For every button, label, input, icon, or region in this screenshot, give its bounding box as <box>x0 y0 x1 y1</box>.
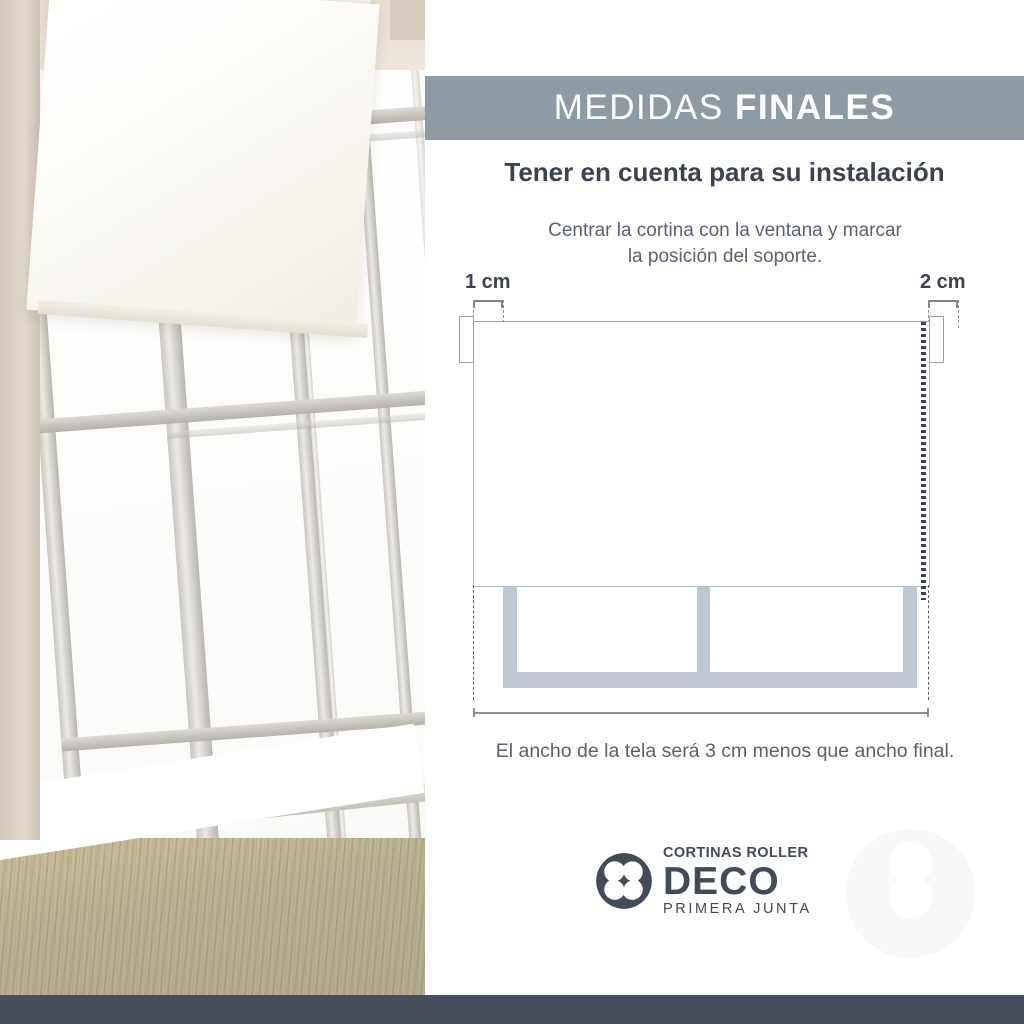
installation-diagram: 1 cm 2 cm <box>425 0 1024 780</box>
roller-fabric-panel <box>473 321 930 587</box>
left-dimension-bracket <box>473 300 503 302</box>
logo-text-middle: DECO <box>663 862 812 901</box>
deco-flower-logo-icon <box>595 852 653 910</box>
logo-text-bottom: PRIMERA JUNTA <box>663 902 812 917</box>
roller-blind-fabric <box>26 0 379 334</box>
left-wall-column <box>0 0 40 840</box>
width-dimension-line <box>473 712 929 714</box>
extension-line-right <box>928 585 929 700</box>
guide-dash-right-outer <box>958 300 959 328</box>
right-dimension-label: 2 cm <box>920 271 966 294</box>
right-bracket-icon <box>929 316 944 363</box>
fabric-width-caption: El ancho de la tela será 3 cm menos que … <box>435 740 1015 763</box>
roller-tube-line <box>473 321 928 322</box>
width-dimension-cap-right <box>927 708 929 717</box>
roller-blind-room-photo <box>0 0 425 995</box>
width-dimension-cap-left <box>473 708 475 717</box>
window-frame-mullion <box>697 578 710 672</box>
window-frame-sill <box>503 672 917 688</box>
ceiling-right-wall <box>390 0 425 40</box>
extension-line-left <box>473 585 474 700</box>
poster-root: MEDIDAS FINALES Tener en cuenta para su … <box>0 0 1024 1024</box>
bottom-bar <box>0 995 1024 1024</box>
left-dimension-label: 1 cm <box>465 271 511 294</box>
brand-logo: CORTINAS ROLLER DECO PRIMERA JUNTA <box>595 845 855 917</box>
left-bracket-icon <box>459 316 474 363</box>
right-dimension-bracket <box>928 300 958 302</box>
deco-watermark-icon <box>843 826 978 961</box>
info-panel: MEDIDAS FINALES Tener en cuenta para su … <box>425 0 1024 995</box>
logo-text: CORTINAS ROLLER DECO PRIMERA JUNTA <box>663 846 812 916</box>
bead-chain-icon <box>921 322 926 600</box>
logo-text-top: CORTINAS ROLLER <box>663 846 812 861</box>
wood-floor <box>0 838 425 995</box>
